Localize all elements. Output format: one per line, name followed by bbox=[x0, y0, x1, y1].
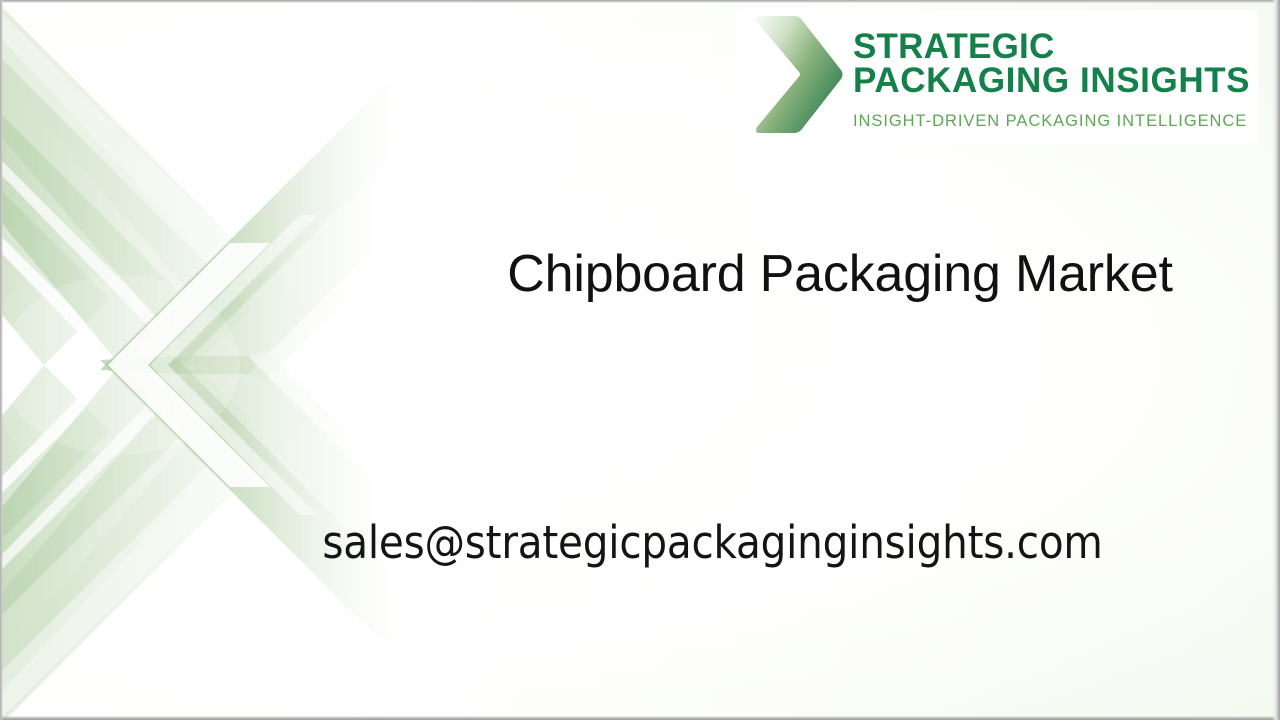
contact-email[interactable]: sales@strategicpackaginginsights.com bbox=[200, 520, 1225, 565]
logo-line-1: STRATEGIC bbox=[853, 30, 1258, 64]
presentation-slide: STRATEGIC PACKAGING INSIGHTS INSIGHT-DRI… bbox=[0, 0, 1280, 720]
chevron-arrow-mark-icon bbox=[737, 10, 849, 143]
title-block: Chipboard Packaging Market bbox=[430, 248, 1250, 300]
contact-block: sales@strategicpackaginginsights.com bbox=[200, 520, 1225, 565]
chevron-stripe-artwork bbox=[0, 0, 470, 720]
page-title: Chipboard Packaging Market bbox=[430, 248, 1250, 300]
logo-tagline: INSIGHT-DRIVEN PACKAGING INTELLIGENCE bbox=[853, 112, 1258, 131]
company-logo: STRATEGIC PACKAGING INSIGHTS INSIGHT-DRI… bbox=[737, 10, 1258, 143]
logo-line-2: PACKAGING INSIGHTS bbox=[853, 64, 1258, 98]
logo-wordmark: STRATEGIC PACKAGING INSIGHTS INSIGHT-DRI… bbox=[849, 10, 1258, 131]
